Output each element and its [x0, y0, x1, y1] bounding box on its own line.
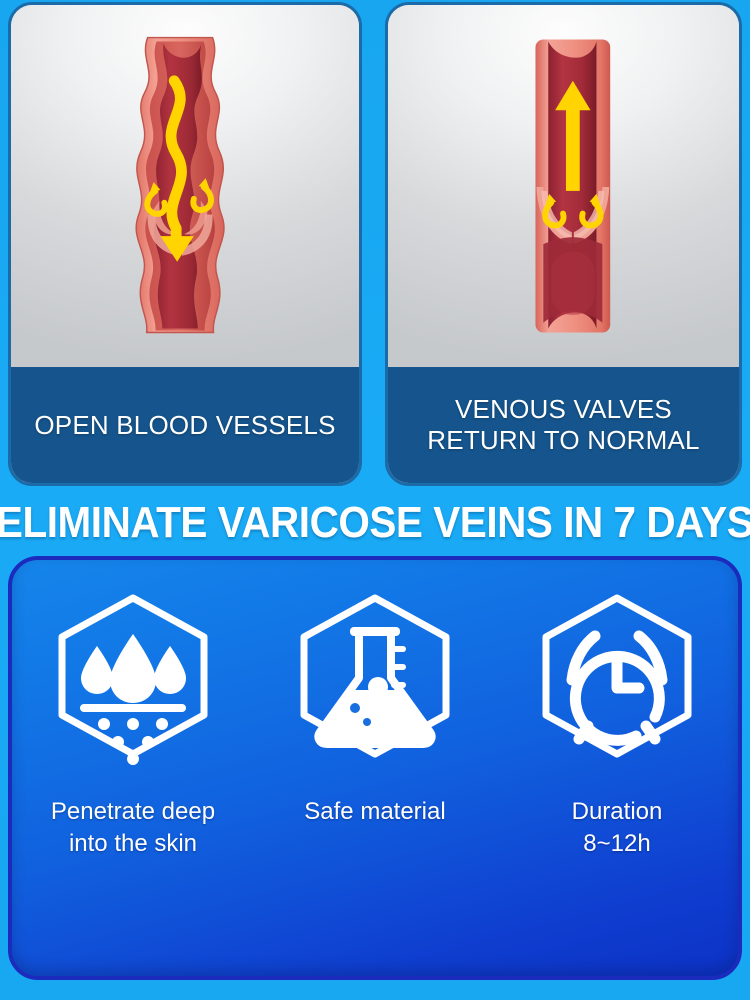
- feature-duration[interactable]: Duration 8~12h: [504, 584, 729, 859]
- feature-label-safe-line1: Safe material: [304, 798, 445, 825]
- feature-label-safe: Safe material: [304, 796, 445, 828]
- poster-stage: OPEN BLOOD VESSELS: [0, 0, 750, 1000]
- feature-label-duration-line1: Duration: [572, 798, 663, 825]
- feature-safe-material[interactable]: Safe material: [262, 584, 487, 828]
- card-caption-left-text: OPEN BLOOD VESSELS: [34, 410, 335, 441]
- feature-label-duration-line2: 8~12h: [583, 830, 650, 857]
- card-caption-right: VENOUS VALVES RETURN TO NORMAL: [388, 367, 739, 483]
- healthy-vein-illustration: [388, 5, 739, 367]
- card-caption-left: OPEN BLOOD VESSELS: [11, 367, 359, 483]
- alarm-clock-icon: [524, 584, 710, 784]
- card-open-blood-vessels[interactable]: OPEN BLOOD VESSELS: [8, 2, 362, 486]
- water-drops-penetration-icon: [40, 584, 226, 784]
- lab-flask-icon: [282, 584, 468, 784]
- feature-label-penetrate-line2: into the skin: [69, 830, 197, 857]
- varicose-vein-illustration: [11, 5, 359, 367]
- feature-penetrate-deep[interactable]: Penetrate deep into the skin: [20, 584, 245, 859]
- page-title: ELIMINATE VARICOSE VEINS IN 7 DAYS: [0, 501, 750, 545]
- feature-label-duration: Duration 8~12h: [572, 796, 663, 859]
- headline-banner: ELIMINATE VARICOSE VEINS IN 7 DAYS: [0, 494, 750, 552]
- card-venous-valves[interactable]: VENOUS VALVES RETURN TO NORMAL: [385, 2, 742, 486]
- card-caption-right-text: VENOUS VALVES RETURN TO NORMAL: [427, 394, 699, 455]
- features-panel: Penetrate deep into the skin: [8, 556, 742, 980]
- card-caption-right-line1: VENOUS VALVES: [455, 394, 672, 424]
- feature-row: Penetrate deep into the skin: [12, 584, 738, 859]
- illustration-cards: OPEN BLOOD VESSELS: [0, 0, 750, 490]
- feature-label-penetrate: Penetrate deep into the skin: [51, 796, 215, 859]
- feature-label-penetrate-line1: Penetrate deep: [51, 798, 215, 825]
- card-caption-right-line2: RETURN TO NORMAL: [427, 425, 699, 455]
